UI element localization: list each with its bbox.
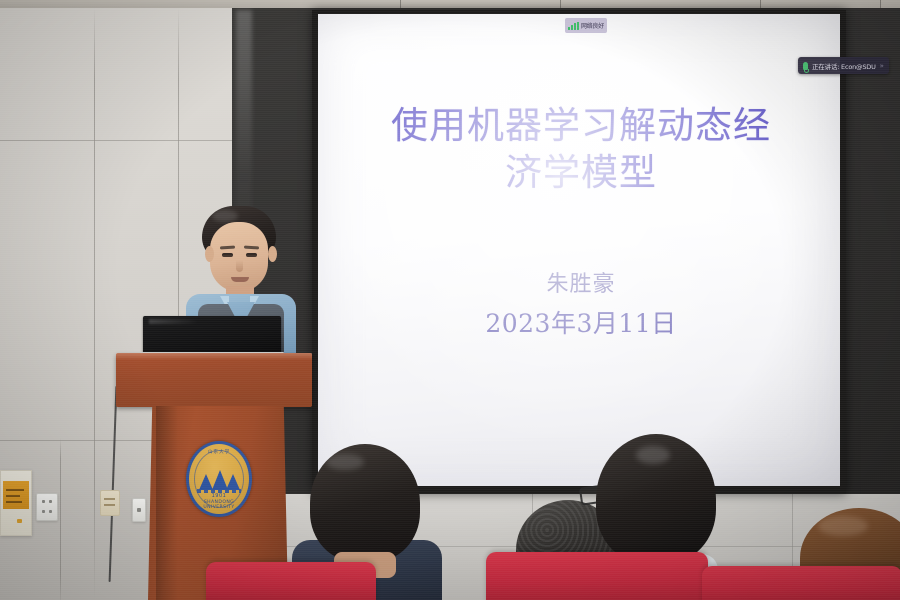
seat-back-left [206,562,376,600]
laptop-screen [143,316,281,354]
presenter-ear-right [268,246,277,262]
audience-center-right [596,434,716,564]
mountain-icon [199,470,239,490]
emblem-year: 1901 [189,493,249,499]
wall-sign-panel [0,470,32,536]
emblem-institution-name: SHANDONG UNIVERSITY [189,500,249,510]
slide-title-line-2: 济学模型 [358,149,804,196]
seat-back-right [702,566,900,600]
emblem-top-text: 山东大学 [189,449,249,455]
university-emblem: 山东大学 1901 SHANDONG UNIVERSITY [186,441,252,517]
slide-author: 朱胜豪 [358,266,804,298]
chevron-right-icon[interactable]: » [880,62,883,70]
wall-switch-plate[interactable] [100,490,120,516]
lecture-hall-scene: 使用机器学习解动态经 济学模型 朱胜豪 2023年3月11日 网络良好 正在讲话… [0,0,900,600]
presenter-eye-right [246,253,257,257]
network-status-badge[interactable]: 网络良好 [565,18,607,33]
wall-sign-face [3,481,29,509]
speaking-label: 正在讲话: Econ@SDU [812,61,876,71]
power-outlet-left[interactable] [36,493,58,521]
presenter-nose [236,260,243,272]
podium-top [116,353,312,407]
power-outlet-right[interactable] [132,498,146,522]
presenter-ear-left [205,246,214,262]
projection-screen: 使用机器学习解动态经 济学模型 朱胜豪 2023年3月11日 [318,14,840,486]
signal-bars-icon [568,22,579,30]
presenter-mouth [231,277,249,282]
wall-sign-badge [17,519,22,523]
slide-title: 使用机器学习解动态经 济学模型 [358,102,804,197]
presenter-eye-left [222,253,233,257]
seat-back-center [486,552,708,600]
microphone-icon [803,62,808,70]
audience-front-left [310,444,420,562]
speaking-indicator-badge[interactable]: 正在讲话: Econ@SDU » [798,57,889,74]
slide-title-line-1: 使用机器学习解动态经 [358,102,804,149]
network-status-label: 网络良好 [581,21,604,30]
slide-date: 2023年3月11日 [358,304,804,340]
